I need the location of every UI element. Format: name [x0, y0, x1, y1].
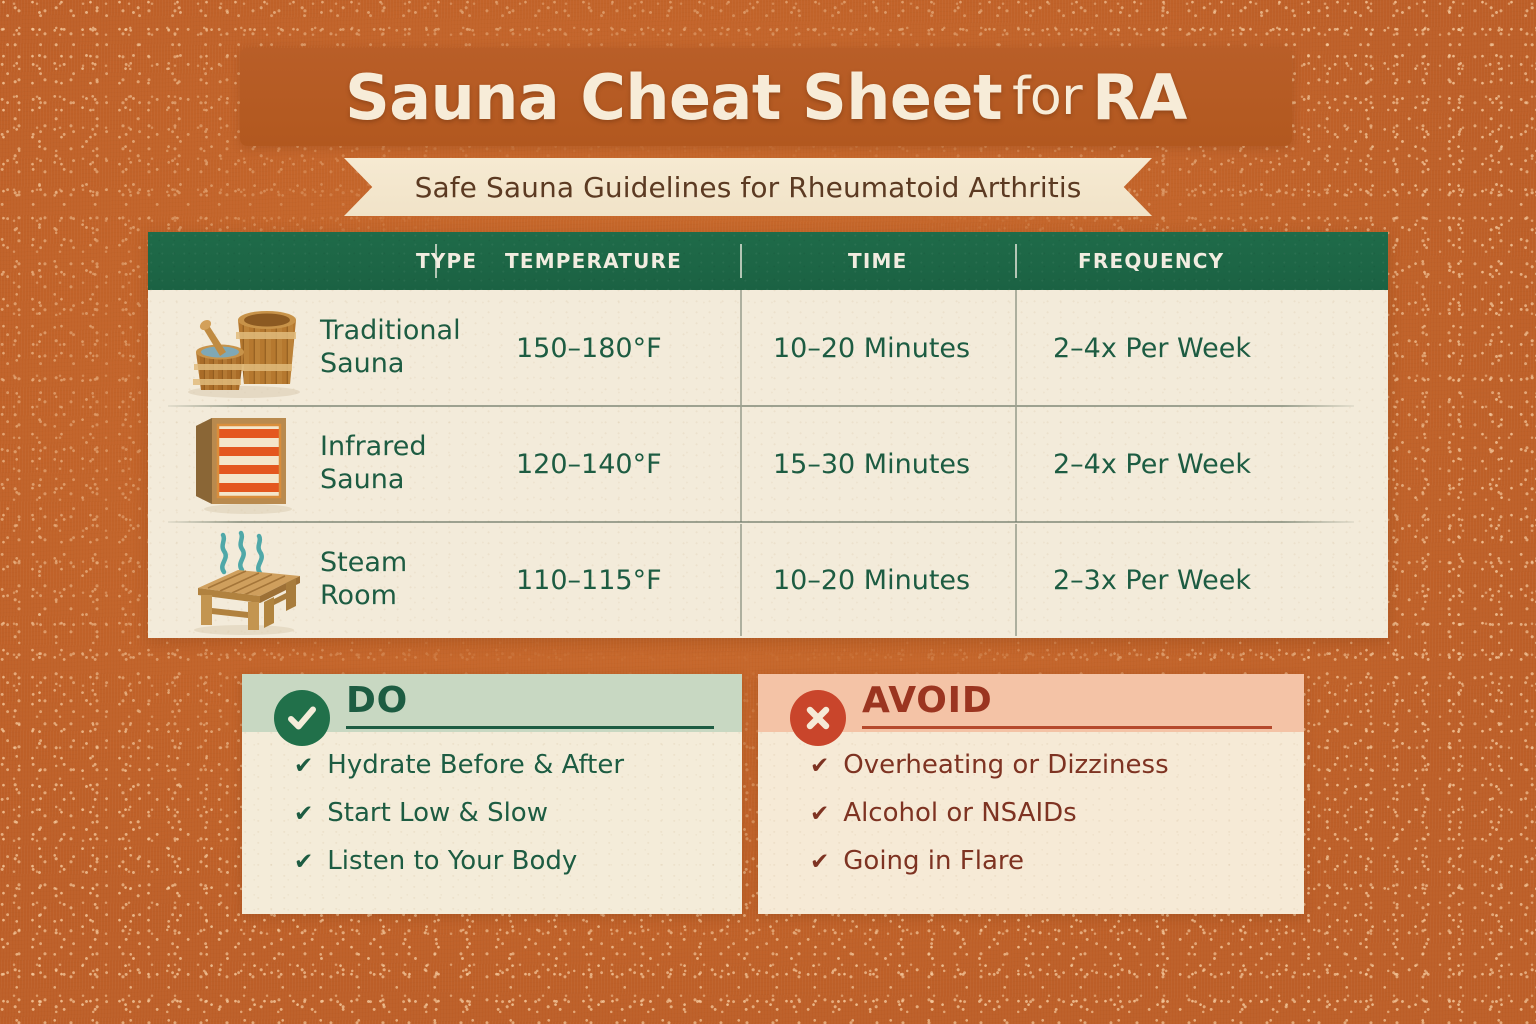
list-item: ✔ Listen to Your Body	[294, 846, 624, 894]
table-header-row: TYPE TEMPERATURE TIME FREQUENCY	[148, 232, 1388, 290]
infographic-page: Sauna Cheat Sheet for RA Safe Sauna Guid…	[0, 0, 1536, 1024]
check-bullet-icon: ✔	[294, 803, 313, 826]
guidelines-table: TYPE TEMPERATURE TIME FREQUENCY	[148, 232, 1388, 638]
page-title-suffix: RA	[1092, 61, 1187, 134]
list-item: ✔ Alcohol or NSAIDs	[810, 798, 1169, 846]
list-item-label: Start Low & Slow	[327, 798, 548, 828]
list-item-label: Listen to Your Body	[327, 846, 577, 876]
check-bullet-icon: ✔	[810, 755, 829, 778]
type-line-2: Sauna	[320, 348, 461, 381]
table-cell-temperature: 110–115°F	[516, 522, 662, 638]
list-item: ✔ Start Low & Slow	[294, 798, 624, 846]
table-cell-time: 10–20 Minutes	[773, 522, 970, 638]
page-title: Sauna Cheat Sheet for RA	[240, 48, 1292, 146]
x-circle-icon	[790, 690, 846, 746]
do-panel: DO ✔ Hydrate Before & After ✔ Start Low …	[242, 674, 742, 914]
page-title-main: Sauna Cheat Sheet	[345, 61, 1002, 134]
avoid-list: ✔ Overheating or Dizziness ✔ Alcohol or …	[810, 750, 1169, 894]
header-divider-3	[1015, 244, 1017, 278]
subtitle-ribbon: Safe Sauna Guidelines for Rheumatoid Art…	[344, 158, 1152, 216]
avoid-panel: AVOID ✔ Overheating or Dizziness ✔ Alcoh…	[758, 674, 1304, 914]
table-cell-frequency: 2–4x Per Week	[1053, 406, 1251, 522]
check-bullet-icon: ✔	[810, 851, 829, 874]
table-column-header-type: TYPE	[416, 232, 477, 290]
table-cell-temperature: 120–140°F	[516, 406, 662, 522]
table-cell-frequency: 2–4x Per Week	[1053, 290, 1251, 406]
list-item-label: Overheating or Dizziness	[843, 750, 1168, 780]
table-row: Traditional Sauna 150–180°F 10–20 Minute…	[148, 290, 1388, 406]
type-line-1: Infrared	[320, 431, 426, 464]
table-cell-type: Traditional Sauna	[320, 290, 461, 406]
table-column-header-time: TIME	[848, 232, 907, 290]
table-cell-time: 10–20 Minutes	[773, 290, 970, 406]
header-divider-1	[435, 244, 437, 278]
steam-bench-icon	[176, 526, 308, 638]
do-list: ✔ Hydrate Before & After ✔ Start Low & S…	[294, 750, 624, 894]
table-cell-type: Infrared Sauna	[320, 406, 426, 522]
type-line-2: Room	[320, 580, 407, 613]
type-line-1: Traditional	[320, 315, 461, 348]
table-cell-frequency: 2–3x Per Week	[1053, 522, 1251, 638]
list-item-label: Alcohol or NSAIDs	[843, 798, 1076, 828]
infrared-panel-icon	[190, 416, 300, 518]
list-item-label: Going in Flare	[843, 846, 1024, 876]
do-panel-title: DO	[346, 680, 408, 721]
table-column-header-temperature: TEMPERATURE	[505, 232, 682, 290]
table-column-header-frequency: FREQUENCY	[1078, 232, 1224, 290]
page-title-connector: for	[1012, 67, 1082, 127]
type-line-2: Sauna	[320, 464, 426, 497]
table-row: Steam Room 110–115°F 10–20 Minutes 2–3x …	[148, 522, 1388, 638]
do-panel-underline	[346, 726, 714, 729]
check-bullet-icon: ✔	[810, 803, 829, 826]
table-cell-temperature: 150–180°F	[516, 290, 662, 406]
sauna-bucket-icon	[178, 302, 306, 402]
type-line-1: Steam	[320, 547, 407, 580]
list-item-label: Hydrate Before & After	[327, 750, 624, 780]
check-bullet-icon: ✔	[294, 851, 313, 874]
avoid-panel-underline	[862, 726, 1272, 729]
page-subtitle: Safe Sauna Guidelines for Rheumatoid Art…	[415, 171, 1082, 204]
table-cell-type: Steam Room	[320, 522, 407, 638]
list-item: ✔ Going in Flare	[810, 846, 1169, 894]
check-circle-icon	[274, 690, 330, 746]
list-item: ✔ Hydrate Before & After	[294, 750, 624, 798]
header-divider-2	[740, 244, 742, 278]
avoid-panel-title: AVOID	[862, 680, 993, 721]
table-cell-time: 15–30 Minutes	[773, 406, 970, 522]
list-item: ✔ Overheating or Dizziness	[810, 750, 1169, 798]
table-row: Infrared Sauna 120–140°F 15–30 Minutes 2…	[148, 406, 1388, 522]
check-bullet-icon: ✔	[294, 755, 313, 778]
